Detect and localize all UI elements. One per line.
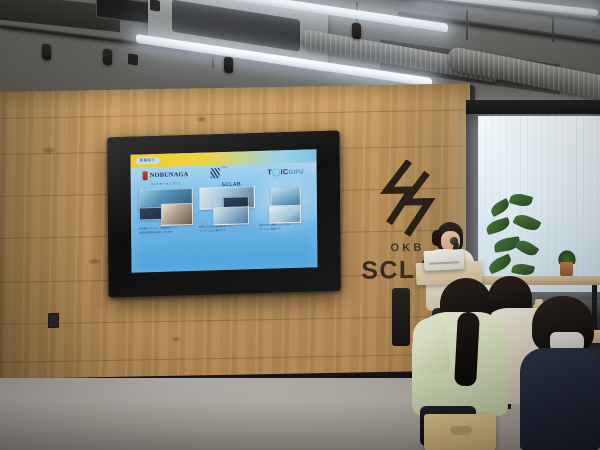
track-spotlight (42, 44, 51, 61)
stool-handle-cutout (450, 426, 472, 435)
slide-caption-line: イノベーション拠点です (199, 229, 255, 234)
audience-arm (411, 316, 452, 376)
plank-seam (0, 353, 470, 363)
audience-ponytail (454, 311, 480, 386)
audience-torso (520, 348, 600, 450)
tube-end-cap (150, 0, 160, 12)
toic-logo-text: T◯ICGIFU (267, 166, 304, 176)
lightning-bolt-mark-icon (210, 168, 219, 178)
toic-dot-icon: ◯ (272, 167, 281, 176)
leaf-icon (512, 211, 541, 234)
leaf-icon (487, 254, 514, 275)
sclab-logo: OKB SCLAB (197, 164, 255, 182)
leaf-icon (485, 217, 511, 235)
wood-knot (172, 337, 181, 342)
track-spotlight (352, 23, 361, 40)
laptop-hinge-line (429, 261, 459, 264)
leaf-icon (489, 198, 512, 217)
nobunaga-logo-sub: ネットワークシステム (137, 181, 195, 187)
laptop[interactable] (424, 249, 465, 271)
small-plant-pot (560, 262, 573, 276)
slide-body: NOBUNAGA ネットワークシステム 岐阜県のベンチャー支援拠点として 地域の… (131, 162, 318, 272)
red-shield-icon (143, 171, 148, 180)
chair-back (392, 288, 410, 346)
presentation-slide: 事業紹介 NOBUNAGA ネットワークシステム 岐阜県のベンチャー支援拠点とし… (130, 149, 317, 272)
plank-seam (0, 109, 470, 119)
wood-knot (196, 116, 207, 122)
toic-logo-suffix: GIFU (288, 169, 304, 175)
tube-end-cap (128, 53, 138, 65)
slide-column-nobunaga: NOBUNAGA ネットワークシステム 岐阜県のベンチャー支援拠点として 地域の… (137, 166, 195, 187)
leaf-icon (509, 191, 533, 209)
wall-mounted-display[interactable]: 事業紹介 NOBUNAGA ネットワークシステム 岐阜県のベンチャー支援拠点とし… (107, 131, 340, 298)
track-spotlight (103, 49, 112, 66)
slide-photo (161, 203, 193, 226)
hanger-rod (466, 10, 468, 40)
power-outlet (48, 313, 59, 328)
toic-logo: T◯ICGIFU (257, 162, 315, 180)
slide-header-pill: 事業紹介 (135, 157, 159, 165)
window-header-bar (466, 100, 600, 114)
slide-column-toic: T◯ICGIFU 岐阜大学と連携したインキュ ベーション施設です (257, 162, 315, 180)
sclab-logo-sub: OKB (221, 166, 227, 169)
wood-knot (88, 258, 101, 264)
track-spotlight (224, 57, 233, 74)
microphone-head-icon (450, 237, 458, 245)
hanger-rod (552, 14, 554, 42)
slide-column-sclab: OKB SCLAB 共創と交流を生み出すオープン イノベーション拠点です (197, 164, 255, 182)
wooden-stool (424, 414, 496, 450)
slide-photo (269, 205, 301, 224)
slide-caption-line: 地域の起業家を支援しています (139, 231, 195, 236)
audience-member (520, 296, 600, 450)
scene-root: OKB SCLAB 事業紹介 NOBUNAGA ネットワークシステム (0, 0, 600, 450)
nobunaga-logo-text: NOBUNAGA (150, 171, 189, 179)
leaf-icon (511, 262, 535, 277)
leaf-icon (515, 237, 540, 259)
slide-photo (213, 206, 249, 225)
